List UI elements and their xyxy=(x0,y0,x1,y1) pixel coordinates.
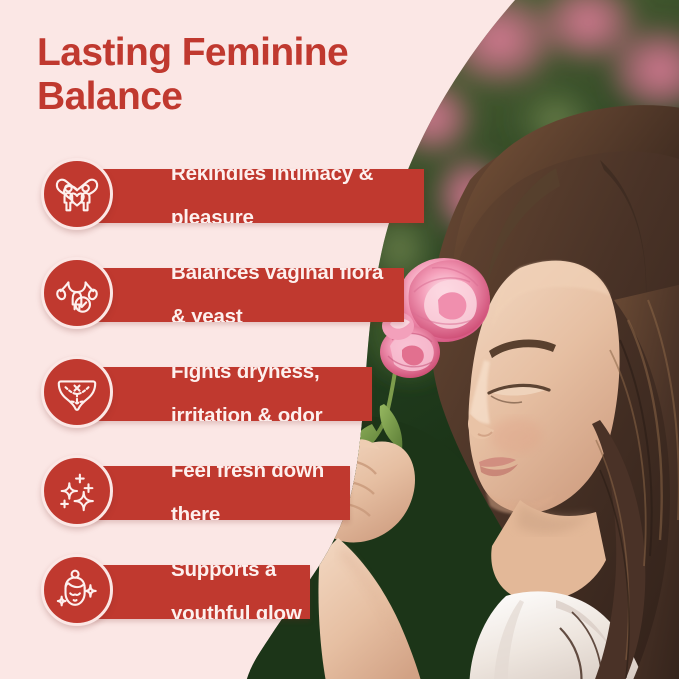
feature-bar: Balances vaginal flora & yeast xyxy=(74,268,404,322)
underwear-x-icon xyxy=(41,356,113,428)
feature-bar: Rekindles intimacy & pleasure xyxy=(74,169,424,223)
feature-text: Rekindles intimacy & pleasure xyxy=(74,169,373,223)
page-title: Lasting Feminine Balance xyxy=(37,31,457,120)
feature-bar: Fights dryness, irritation & odor xyxy=(74,367,372,421)
feature-text-line-2: irritation & odor xyxy=(171,404,322,421)
feature-text: Balances vaginal flora & yeast xyxy=(74,268,383,322)
page-title-line-1: Lasting Feminine xyxy=(37,31,457,75)
woman-face-glow-icon xyxy=(41,554,113,626)
page-title-line-2: Balance xyxy=(37,75,457,119)
sparkles-icon xyxy=(41,455,113,527)
feature-text-line-2: & yeast xyxy=(171,305,243,322)
feature-bar: Feel fresh down there xyxy=(74,466,350,520)
promo-infographic: Lasting Feminine Balance Rekindles intim… xyxy=(0,0,679,679)
couple-heart-icon xyxy=(41,158,113,230)
feature-text-line-2: pleasure xyxy=(171,206,254,223)
sparkles-icon-glyph xyxy=(54,468,100,514)
underwear-x-icon-glyph xyxy=(54,369,100,415)
uterus-check-icon-glyph xyxy=(54,270,100,316)
feature-text-line-2: youthful glow xyxy=(171,602,302,619)
feature-text-line-1: Supports a xyxy=(171,565,276,581)
woman-face-glow-icon-glyph xyxy=(54,567,100,613)
feature-text-line-1: Balances vaginal flora xyxy=(171,268,383,284)
feature-text-line-1: Feel fresh down xyxy=(171,466,324,482)
couple-heart-icon-glyph xyxy=(54,171,100,217)
feature-text-line-1: Rekindles intimacy & xyxy=(171,169,373,185)
uterus-check-icon xyxy=(41,257,113,329)
feature-text-line-2: there xyxy=(171,503,220,520)
feature-text-line-1: Fights dryness, xyxy=(171,367,320,383)
